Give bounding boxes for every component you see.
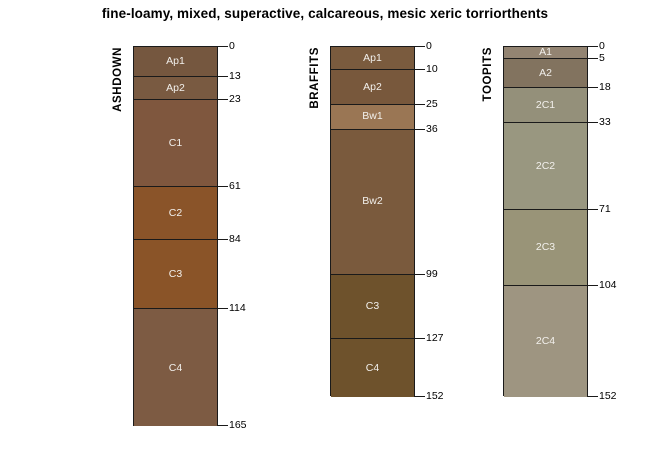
horizon-segment: C2 bbox=[134, 187, 217, 240]
depth-tick-mark bbox=[414, 129, 425, 130]
horizon-segment: 2C3 bbox=[504, 210, 587, 286]
horizon-label: A2 bbox=[539, 68, 552, 79]
horizon-label: C3 bbox=[169, 269, 182, 280]
depth-tick-label: 23 bbox=[229, 94, 241, 105]
depth-tick-mark bbox=[414, 396, 425, 397]
horizon-segment: A1 bbox=[504, 47, 587, 59]
horizon-label: C2 bbox=[169, 208, 182, 219]
depth-tick-label: 99 bbox=[426, 269, 438, 280]
depth-tick-label: 13 bbox=[229, 71, 241, 82]
depth-tick-label: 33 bbox=[599, 117, 611, 128]
depth-tick-mark bbox=[587, 58, 598, 59]
horizon-label: C3 bbox=[366, 301, 379, 312]
depth-tick-mark bbox=[217, 239, 228, 240]
depth-tick-label: 71 bbox=[599, 204, 611, 215]
depth-tick-mark bbox=[414, 338, 425, 339]
depth-tick-label: 0 bbox=[426, 41, 432, 52]
depth-tick-label: 61 bbox=[229, 181, 241, 192]
horizon-label: Ap2 bbox=[363, 82, 382, 93]
depth-tick-mark bbox=[414, 104, 425, 105]
depth-tick-mark bbox=[587, 46, 598, 47]
depth-tick-label: 165 bbox=[229, 420, 247, 431]
horizon-segment: 2C2 bbox=[504, 123, 587, 210]
horizon-segment: C1 bbox=[134, 100, 217, 187]
horizon-label: 2C3 bbox=[536, 242, 555, 253]
horizon-label: 2C4 bbox=[536, 336, 555, 347]
horizon-segment: Bw2 bbox=[331, 130, 414, 275]
horizon-segment: C4 bbox=[134, 309, 217, 426]
depth-tick-label: 18 bbox=[599, 82, 611, 93]
depth-tick-label: 114 bbox=[229, 303, 246, 314]
horizon-segment: C4 bbox=[331, 339, 414, 397]
depth-tick-label: 127 bbox=[426, 333, 444, 344]
horizon-label: 2C2 bbox=[536, 161, 555, 172]
horizon-label: Ap1 bbox=[363, 53, 382, 64]
horizon-label: 2C1 bbox=[536, 100, 555, 111]
depth-tick-mark bbox=[414, 274, 425, 275]
depth-tick-mark bbox=[217, 99, 228, 100]
depth-tick-label: 152 bbox=[599, 391, 617, 402]
depth-tick-label: 25 bbox=[426, 99, 438, 110]
depth-tick-mark bbox=[217, 308, 228, 309]
depth-tick-mark bbox=[587, 285, 598, 286]
profile-column: Ap1Ap2C1C2C3C4 bbox=[133, 46, 218, 426]
depth-tick-mark bbox=[217, 425, 228, 426]
depth-tick-label: 10 bbox=[426, 64, 438, 75]
horizon-label: Bw1 bbox=[362, 111, 382, 122]
depth-tick-label: 152 bbox=[426, 391, 444, 402]
horizon-segment: C3 bbox=[331, 275, 414, 339]
depth-tick-label: 36 bbox=[426, 124, 438, 135]
depth-tick-label: 0 bbox=[229, 41, 235, 52]
profile-column: Ap1Ap2Bw1Bw2C3C4 bbox=[330, 46, 415, 396]
horizon-segment: Ap1 bbox=[331, 47, 414, 70]
horizon-label: Bw2 bbox=[362, 196, 382, 207]
horizon-label: C1 bbox=[169, 138, 182, 149]
depth-tick-mark bbox=[587, 396, 598, 397]
horizon-label: C4 bbox=[169, 363, 182, 374]
horizon-label: Ap2 bbox=[166, 83, 185, 94]
depth-tick-mark bbox=[217, 186, 228, 187]
horizon-label: Ap1 bbox=[166, 56, 185, 67]
depth-tick-mark bbox=[414, 69, 425, 70]
profile-name-label: BRAFFITS bbox=[309, 47, 321, 109]
depth-tick-label: 5 bbox=[599, 53, 605, 64]
depth-tick-mark bbox=[587, 209, 598, 210]
chart-title: fine-loamy, mixed, superactive, calcareo… bbox=[0, 6, 650, 21]
horizon-segment: Bw1 bbox=[331, 105, 414, 130]
depth-tick-mark bbox=[217, 76, 228, 77]
horizon-label: A1 bbox=[539, 47, 552, 58]
profile-column: A1A22C12C22C32C4 bbox=[503, 46, 588, 396]
horizon-segment: C3 bbox=[134, 240, 217, 309]
depth-tick-mark bbox=[414, 46, 425, 47]
depth-tick-label: 84 bbox=[229, 234, 241, 245]
horizon-label: C4 bbox=[366, 363, 379, 374]
horizon-segment: Ap1 bbox=[134, 47, 217, 77]
depth-tick-mark bbox=[587, 87, 598, 88]
depth-tick-label: 0 bbox=[599, 41, 605, 52]
depth-tick-mark bbox=[217, 46, 228, 47]
horizon-segment: 2C4 bbox=[504, 286, 587, 396]
horizon-segment: A2 bbox=[504, 59, 587, 89]
horizon-segment: 2C1 bbox=[504, 88, 587, 123]
profile-name-label: ASHDOWN bbox=[112, 47, 124, 112]
profile-name-label: TOOPITS bbox=[482, 47, 494, 101]
horizon-segment: Ap2 bbox=[134, 77, 217, 100]
depth-tick-mark bbox=[587, 122, 598, 123]
horizon-segment: Ap2 bbox=[331, 70, 414, 105]
depth-tick-label: 104 bbox=[599, 280, 617, 291]
